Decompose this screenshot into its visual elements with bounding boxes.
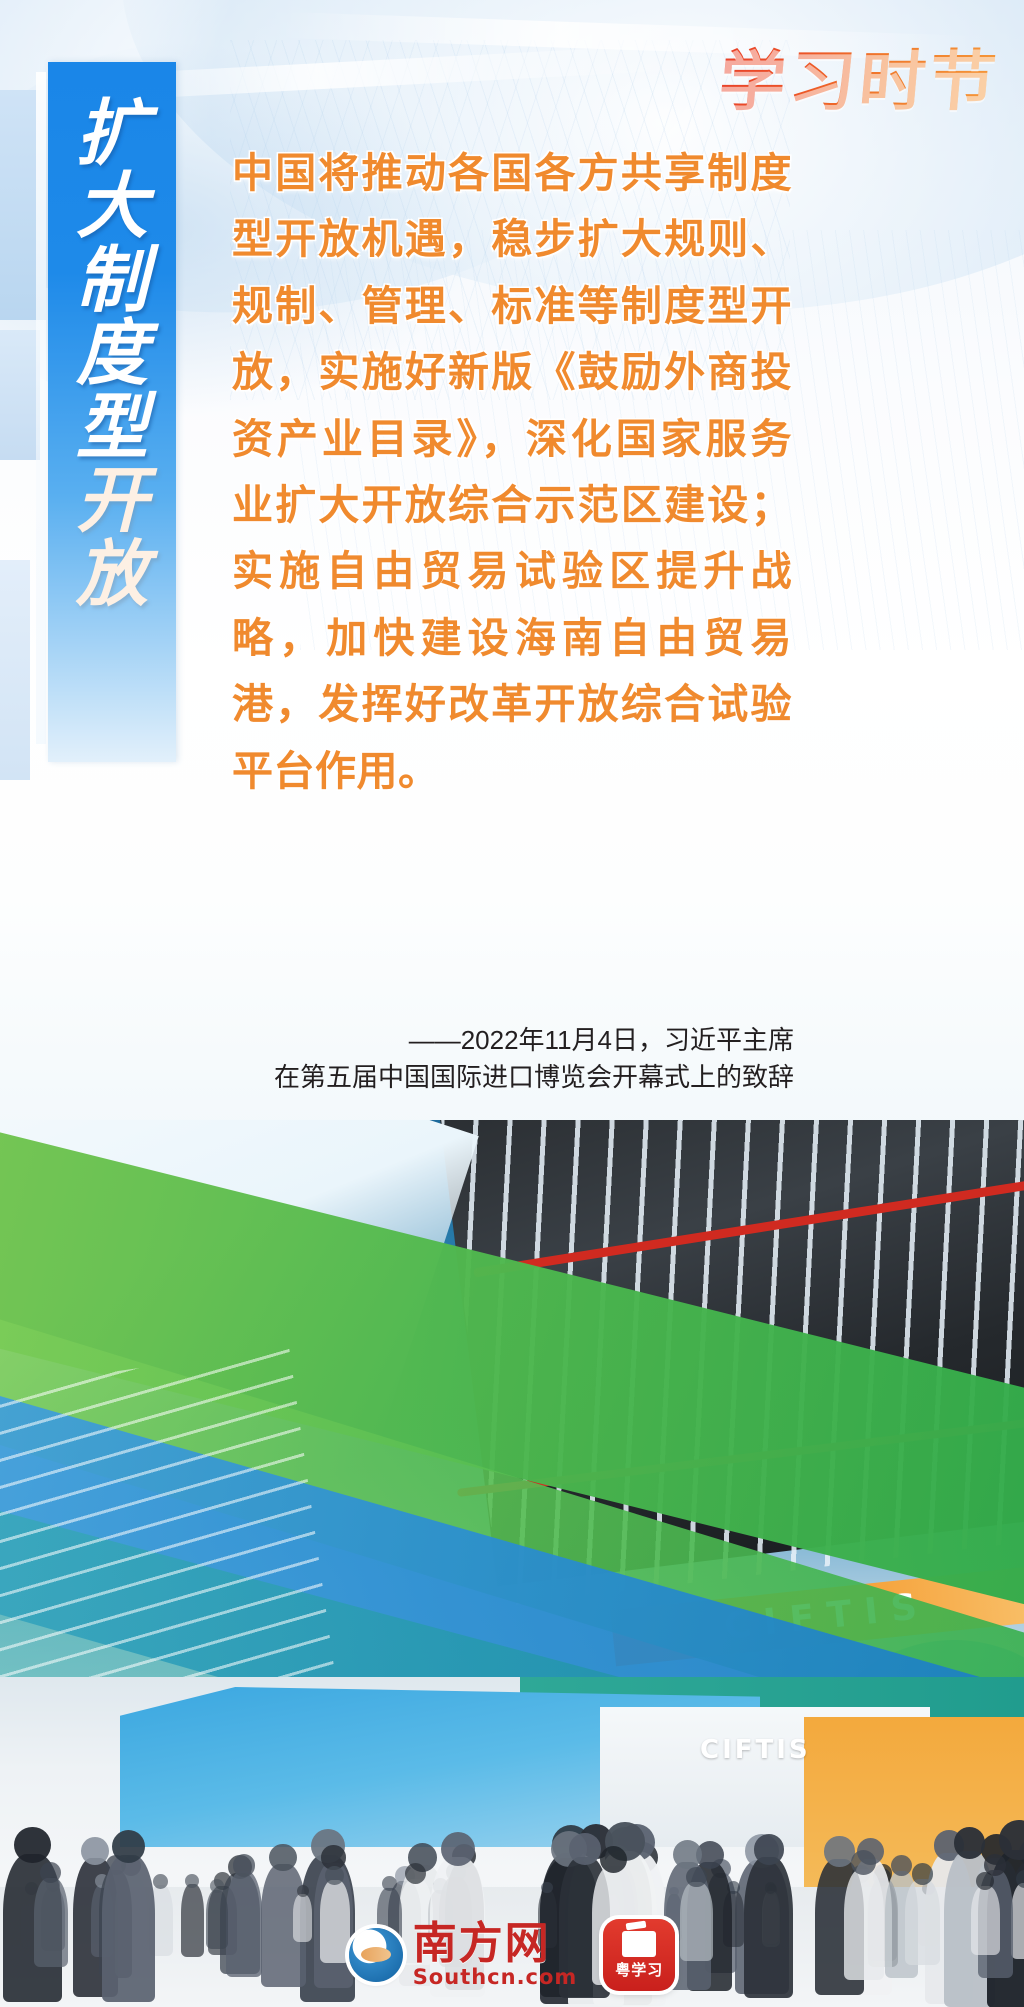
banner-char-4: 型 [76,390,148,463]
banner-char-5: 开 [76,463,148,536]
crowd-person-head [14,1827,51,1864]
banner-char-0: 扩 [76,96,148,169]
attribution-line-1: ——2022年11月4日，习近平主席 [232,1022,794,1059]
crowd-person-head [600,1846,627,1873]
crowd-person-head [569,1833,601,1865]
banner-char-2: 制 [76,243,148,316]
crowd-person-head [891,1855,912,1876]
crowd-person-head [81,1837,109,1865]
crowd-person-head [686,1867,706,1887]
crowd-person-head [754,1834,784,1864]
southcn-logo-icon [349,1928,403,1982]
southcn-logo-text: 南方网 Southcn.com [413,1922,578,1988]
crowd-person-head [441,1832,475,1866]
crowd-person-head [912,1863,934,1885]
poster-root: 学习时节 扩 大 制 度 型 开 放 中国将推动各国各方共享制度型开放机遇，稳步… [0,0,1024,2007]
ciftis-signage-secondary: CIFTIS [700,1735,811,1765]
southcn-logo-cn: 南方网 [413,1922,578,1967]
yuexuexi-glyph-icon [622,1931,656,1957]
vertical-headline-text: 扩 大 制 度 型 开 放 [48,96,176,610]
crowd-person-head [153,1874,168,1889]
vertical-headline-banner: 扩 大 制 度 型 开 放 [48,62,176,762]
expo-hall-photo: CIFTIS CIFTIS CIFTIS [0,1120,1024,2007]
banner-char-3: 度 [76,316,148,389]
southcn-logo[interactable]: 南方网 Southcn.com [349,1922,578,1988]
quote-body: 中国将推动各国各方共享制度型开放机遇，稳步扩大规则、规制、管理、标准等制度型开放… [232,140,792,804]
banner-char-6: 放 [76,537,148,610]
southcn-logo-en: Southcn.com [413,1967,578,1988]
decor-blue-block-3 [0,560,30,780]
crowd-person-head [325,1866,344,1885]
page-title: 学习时节 [716,28,1004,124]
footer-logos: 南方网 Southcn.com 粤学习 [0,1919,1024,1991]
yuexuexi-app-icon[interactable]: 粤学习 [603,1919,675,1991]
quote-attribution: ——2022年11月4日，习近平主席 在第五届中国国际进口博览会开幕式上的致辞 [232,1022,794,1096]
yuexuexi-app-label: 粤学习 [615,1959,663,1980]
lower-photo-section: CIFTIS CIFTIS CIFTIS 截至2023年8月，经8年6轮 [0,1120,1024,2007]
banner-char-1: 大 [76,169,148,242]
crowd-person-head [112,1830,145,1863]
crowd-person-head [1016,1870,1024,1888]
decor-blue-block-2 [0,330,40,460]
attribution-line-2: 在第五届中国国际进口博览会开幕式上的致辞 [232,1059,794,1096]
